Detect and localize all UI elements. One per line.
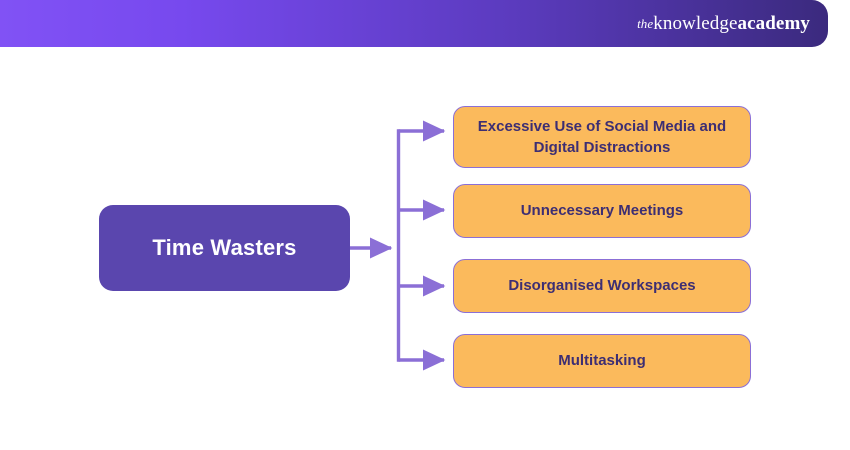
header-bar: theknowledgeacademy (0, 0, 828, 47)
brand-logo-suffix: academy (738, 13, 810, 34)
leaf-node-label: Multitasking (558, 350, 646, 371)
leaf-node-social-media[interactable]: Excessive Use of Social Media and Digita… (453, 106, 751, 168)
brand-logo-middle: knowledge (653, 13, 737, 34)
leaf-node-label: Disorganised Workspaces (508, 275, 695, 296)
brand-logo-prefix: the (637, 16, 653, 31)
brand-logo: theknowledgeacademy (637, 13, 810, 35)
leaf-node-unnecessary-meetings[interactable]: Unnecessary Meetings (453, 184, 751, 238)
diagram-canvas: theknowledgeacademy Time Wasters Excessi… (0, 0, 850, 450)
leaf-node-label: Excessive Use of Social Media and Digita… (468, 116, 736, 159)
leaf-node-label: Unnecessary Meetings (521, 200, 684, 221)
root-node-label: Time Wasters (152, 235, 296, 261)
root-node-time-wasters[interactable]: Time Wasters (99, 205, 350, 291)
leaf-node-multitasking[interactable]: Multitasking (453, 334, 751, 388)
leaf-node-disorganised-workspaces[interactable]: Disorganised Workspaces (453, 259, 751, 313)
